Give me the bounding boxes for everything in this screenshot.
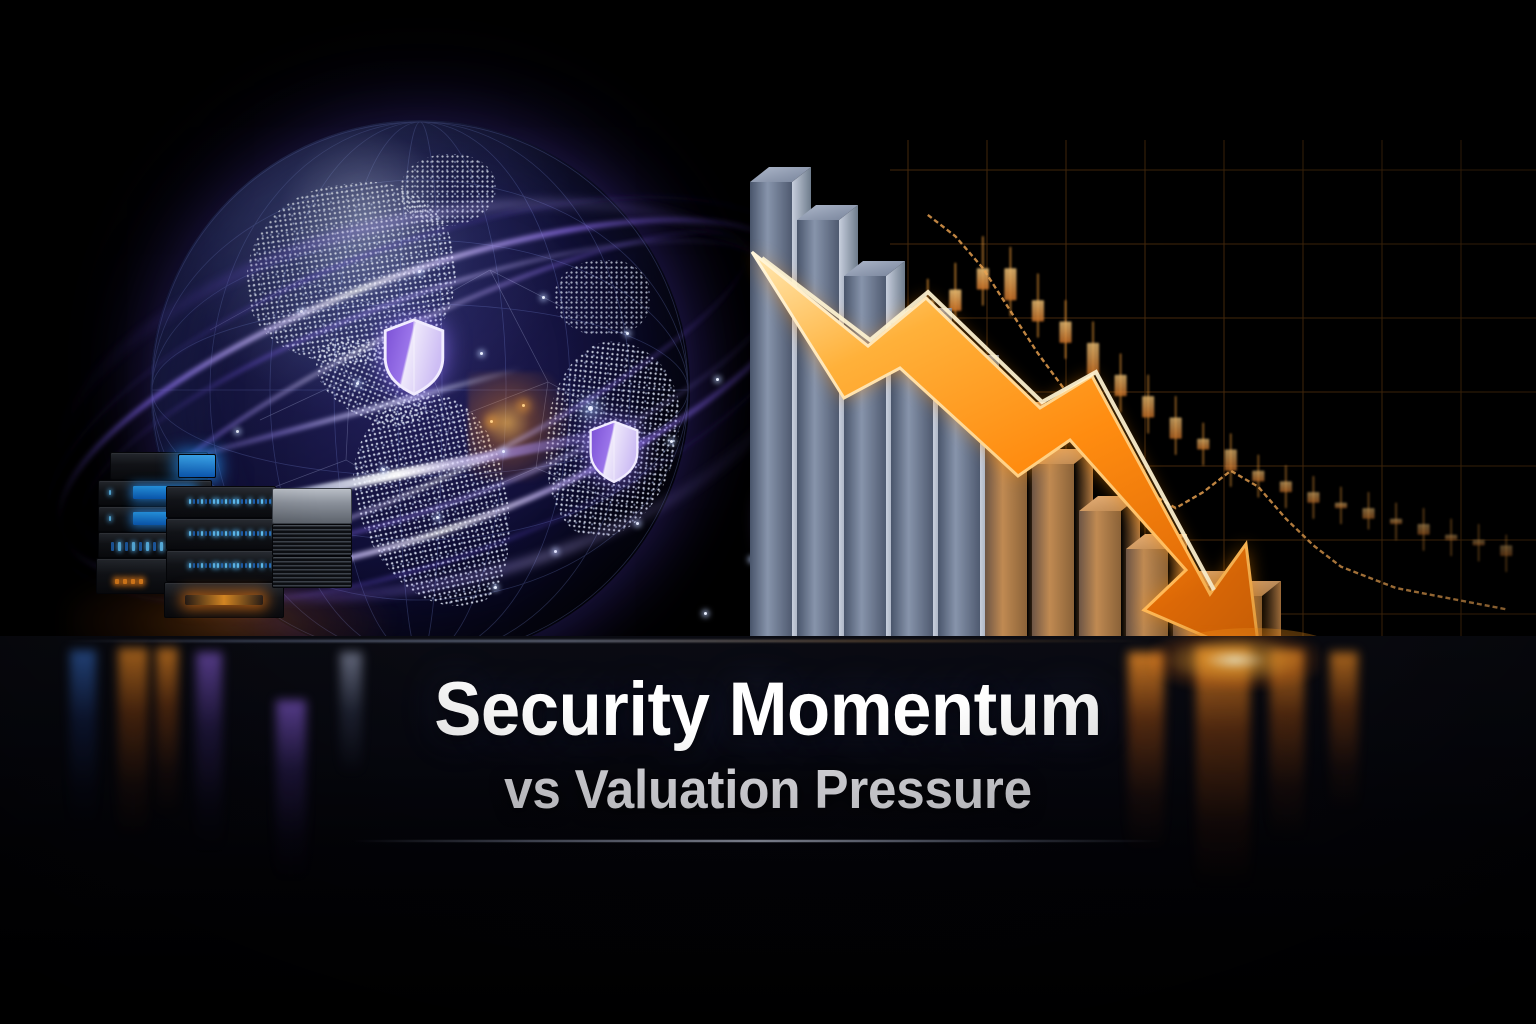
continent-europe xyxy=(554,260,650,336)
server-status-led xyxy=(146,542,149,551)
globe-outer-glow xyxy=(60,30,780,750)
server-status-led xyxy=(229,531,231,536)
server-status-led xyxy=(249,563,251,568)
network-node xyxy=(236,430,239,433)
server-status-led xyxy=(205,531,207,536)
chart-bar xyxy=(938,355,999,652)
title-block: Security Momentum vs Valuation Pressure xyxy=(0,672,1536,817)
network-node xyxy=(356,382,359,385)
server-status-led xyxy=(115,579,119,584)
server-unit xyxy=(178,454,216,478)
server-status-led xyxy=(189,499,191,504)
chart-bar xyxy=(844,261,905,652)
server-led-row xyxy=(115,579,143,584)
server-status-led xyxy=(229,499,231,504)
security-shield-icon xyxy=(766,492,824,563)
server-unit xyxy=(164,582,284,618)
network-node xyxy=(704,612,707,615)
server-unit xyxy=(272,524,352,556)
globe-limb-light xyxy=(150,120,690,660)
server-status-led xyxy=(261,499,263,504)
security-shield-icon xyxy=(382,318,446,396)
chart-bar xyxy=(1032,449,1093,652)
server-status-led xyxy=(209,531,211,536)
network-node xyxy=(522,404,525,407)
server-status-led xyxy=(241,531,243,536)
network-node xyxy=(490,420,493,423)
server-status-led xyxy=(225,563,227,568)
light-streak-secondary xyxy=(150,366,523,480)
candlestick-backdrop xyxy=(890,140,1536,660)
network-node xyxy=(588,406,593,411)
page-subtitle: vs Valuation Pressure xyxy=(54,762,1482,817)
server-amber-status-bar xyxy=(185,595,263,605)
server-status-led xyxy=(118,542,121,551)
continent-central-america xyxy=(303,324,442,438)
network-node xyxy=(278,522,281,525)
globe-sphere xyxy=(150,120,690,660)
server-status-led xyxy=(245,499,247,504)
network-node xyxy=(382,468,385,471)
network-node xyxy=(636,522,639,525)
server-status-led xyxy=(209,563,211,568)
network-node xyxy=(542,296,545,299)
server-status-led xyxy=(245,531,247,536)
valuation-chart-group xyxy=(740,140,1536,670)
server-status-led xyxy=(197,531,199,536)
arrow-body xyxy=(752,252,1260,660)
network-node xyxy=(750,558,753,561)
server-status-led xyxy=(257,499,259,504)
network-node xyxy=(554,550,557,553)
server-led-row xyxy=(189,563,275,568)
server-status-led xyxy=(221,563,223,568)
server-status-led xyxy=(249,499,251,504)
server-status-led xyxy=(269,563,271,568)
server-status-led xyxy=(265,531,267,536)
vignette-overlay xyxy=(0,0,1536,1024)
server-status-led xyxy=(123,579,127,584)
server-status-led xyxy=(193,563,195,568)
server-status-led xyxy=(193,499,195,504)
network-node xyxy=(670,440,673,443)
server-status-led xyxy=(233,531,235,536)
network-node xyxy=(494,586,497,589)
server-status-led xyxy=(201,499,203,504)
server-status-led xyxy=(217,563,219,568)
server-status-led xyxy=(245,563,247,568)
server-status-led xyxy=(253,531,255,536)
server-unit xyxy=(166,486,276,518)
chart-bar xyxy=(1126,534,1187,652)
server-status-led xyxy=(253,563,255,568)
server-status-led xyxy=(237,499,239,504)
network-node xyxy=(850,516,855,521)
chart-bar xyxy=(1079,496,1140,652)
server-status-led xyxy=(153,542,156,551)
server-status-led xyxy=(213,499,215,504)
globe-surface-mask xyxy=(150,120,690,660)
server-status-led xyxy=(265,563,267,568)
network-node xyxy=(300,310,303,313)
server-unit xyxy=(98,480,212,506)
server-status-led xyxy=(261,563,263,568)
chart-bar xyxy=(797,205,858,652)
server-lcd-display xyxy=(133,486,195,499)
server-led-row xyxy=(189,531,275,536)
chart-bar xyxy=(1173,571,1234,652)
server-status-led xyxy=(225,531,227,536)
server-status-led xyxy=(241,499,243,504)
downward-trend-arrow xyxy=(740,140,1536,670)
server-status-led xyxy=(265,499,267,504)
server-unit xyxy=(272,488,352,524)
server-status-led xyxy=(257,563,259,568)
server-status-led xyxy=(249,531,251,536)
server-status-led xyxy=(201,531,203,536)
globe-graticule xyxy=(150,120,690,660)
network-node xyxy=(868,388,871,391)
network-node xyxy=(716,378,719,381)
continent-south-america xyxy=(337,383,528,624)
server-status-led xyxy=(139,579,143,584)
server-lcd-display xyxy=(133,512,195,525)
server-status-led xyxy=(269,531,271,536)
network-node xyxy=(626,332,629,335)
server-status-led xyxy=(233,563,235,568)
continent-greenland xyxy=(400,154,496,226)
security-shield-icon xyxy=(588,420,640,483)
server-status-led xyxy=(273,563,275,568)
server-unit xyxy=(272,556,352,588)
server-unit xyxy=(96,558,214,594)
network-node xyxy=(436,516,439,519)
server-unit xyxy=(98,506,212,532)
server-status-led xyxy=(213,531,215,536)
server-status-led xyxy=(201,563,203,568)
server-status-led xyxy=(217,531,219,536)
server-unit xyxy=(98,532,212,558)
server-unit xyxy=(166,518,276,550)
server-status-led xyxy=(160,542,163,551)
server-status-led xyxy=(213,563,215,568)
server-status-led xyxy=(132,542,135,551)
network-node xyxy=(810,606,813,609)
server-led-row xyxy=(189,499,275,504)
light-streak-primary xyxy=(183,421,646,520)
server-status-led xyxy=(221,499,223,504)
server-status-led xyxy=(225,499,227,504)
server-status-led xyxy=(111,542,114,551)
server-status-led xyxy=(139,542,142,551)
server-status-led xyxy=(233,499,235,504)
server-status-led xyxy=(261,531,263,536)
server-status-led xyxy=(109,490,111,495)
network-node xyxy=(798,450,801,453)
chart-bar xyxy=(1220,581,1281,652)
continent-west-africa xyxy=(536,336,688,545)
chart-bar xyxy=(750,167,811,652)
server-status-led xyxy=(205,563,207,568)
server-status-led xyxy=(189,563,191,568)
server-status-led xyxy=(221,531,223,536)
server-status-led xyxy=(273,499,275,504)
network-node xyxy=(418,270,421,273)
server-status-led xyxy=(205,499,207,504)
server-status-led xyxy=(209,499,211,504)
network-node xyxy=(502,450,505,453)
server-status-led xyxy=(189,531,191,536)
floor-horizon-line xyxy=(352,840,1164,842)
server-status-led xyxy=(197,499,199,504)
server-status-led xyxy=(193,531,195,536)
server-unit xyxy=(110,452,208,480)
scene-canvas: Security Momentum vs Valuation Pressure xyxy=(0,0,1536,1024)
server-status-led xyxy=(241,563,243,568)
server-status-led xyxy=(237,563,239,568)
digital-earth-globe xyxy=(150,120,690,660)
server-status-led xyxy=(131,579,135,584)
server-status-led xyxy=(217,499,219,504)
page-title: Security Momentum xyxy=(54,672,1482,748)
server-status-led xyxy=(273,531,275,536)
server-status-led xyxy=(229,563,231,568)
server-unit xyxy=(166,550,276,582)
network-hub-glow xyxy=(468,372,598,482)
chart-bar xyxy=(891,308,952,652)
server-led-row xyxy=(111,542,163,551)
server-status-led xyxy=(109,516,111,521)
server-status-led xyxy=(257,531,259,536)
server-status-led xyxy=(269,499,271,504)
server-status-led xyxy=(253,499,255,504)
orbital-rings xyxy=(20,80,840,720)
chart-bar xyxy=(985,402,1046,652)
continent-north-america xyxy=(234,170,467,377)
server-rack-stack xyxy=(96,452,346,642)
server-status-led xyxy=(197,563,199,568)
server-status-led xyxy=(237,531,239,536)
floor-front-edge xyxy=(60,640,1160,642)
server-status-led xyxy=(125,542,128,551)
network-node xyxy=(480,352,483,355)
